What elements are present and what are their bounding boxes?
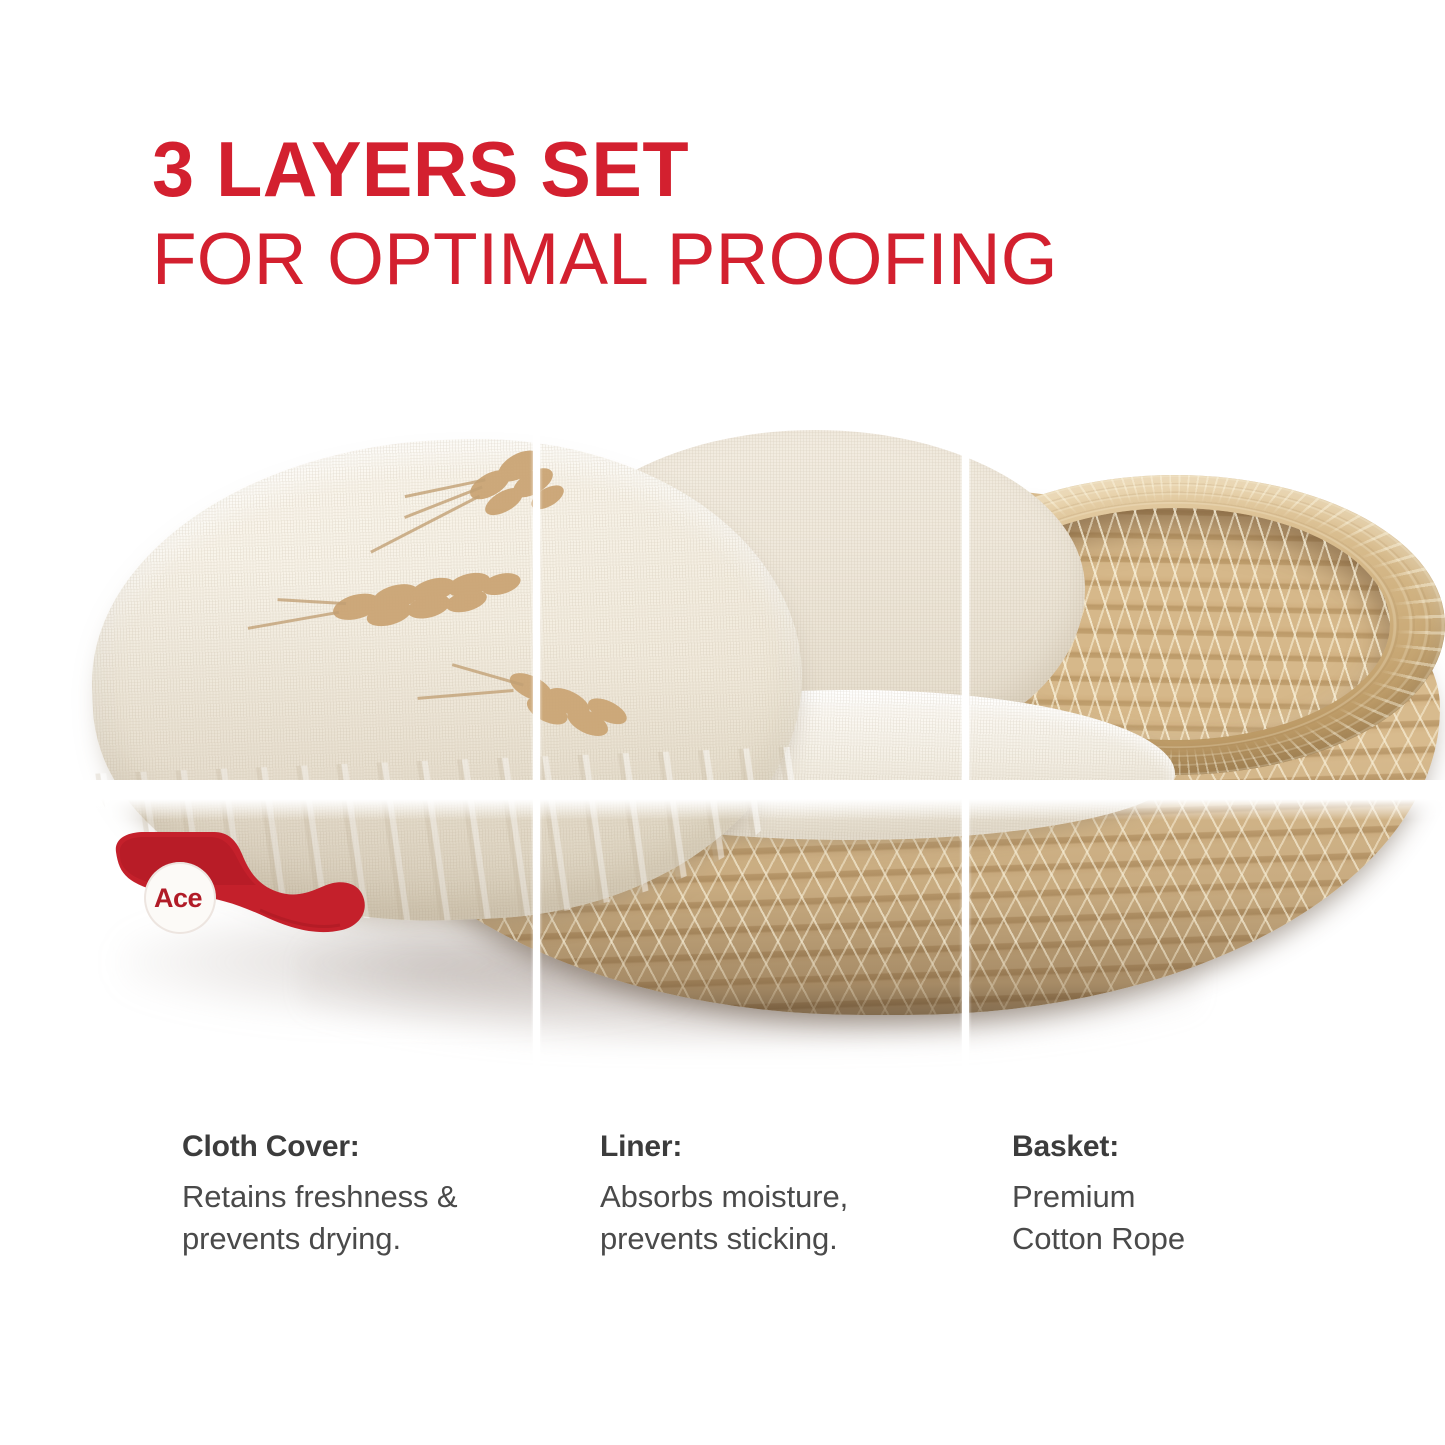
caption-basket: Basket: Premium Cotton Rope — [1012, 1130, 1342, 1260]
infographic-canvas: 3 LAYERS SET FOR OPTIMAL PROOFING — [0, 0, 1445, 1445]
caption-basket-title: Basket: — [1012, 1130, 1342, 1164]
caption-cloth-cover-body: Retains freshness & prevents drying. — [182, 1176, 532, 1260]
caption-liner-line1: Absorbs moisture, — [600, 1176, 930, 1218]
brand-tag-label: Ace — [154, 883, 202, 914]
panel-divider-right — [962, 400, 969, 1140]
caption-basket-line2: Cotton Rope — [1012, 1218, 1342, 1260]
caption-liner: Liner: Absorbs moisture, prevents sticki… — [600, 1130, 930, 1260]
caption-cloth-cover-title: Cloth Cover: — [182, 1130, 532, 1164]
product-photo-stage: Ace — [0, 400, 1445, 1120]
caption-cloth-cover: Cloth Cover: Retains freshness & prevent… — [182, 1130, 532, 1260]
brand-tag: Ace — [110, 830, 385, 942]
brand-logo-badge: Ace — [144, 862, 216, 934]
headline-block: 3 LAYERS SET FOR OPTIMAL PROOFING — [152, 132, 1312, 295]
headline-line-1: 3 LAYERS SET — [152, 132, 1277, 207]
caption-cloth-cover-line1: Retains freshness & — [182, 1176, 532, 1218]
caption-cloth-cover-line2: prevents drying. — [182, 1218, 532, 1260]
caption-basket-body: Premium Cotton Rope — [1012, 1176, 1342, 1260]
panel-divider-left — [533, 400, 540, 1140]
caption-liner-title: Liner: — [600, 1130, 930, 1164]
caption-liner-line2: prevents sticking. — [600, 1218, 930, 1260]
caption-liner-body: Absorbs moisture, prevents sticking. — [600, 1176, 930, 1260]
caption-basket-line1: Premium — [1012, 1176, 1342, 1218]
headline-line-2: FOR OPTIMAL PROOFING — [152, 225, 1312, 295]
